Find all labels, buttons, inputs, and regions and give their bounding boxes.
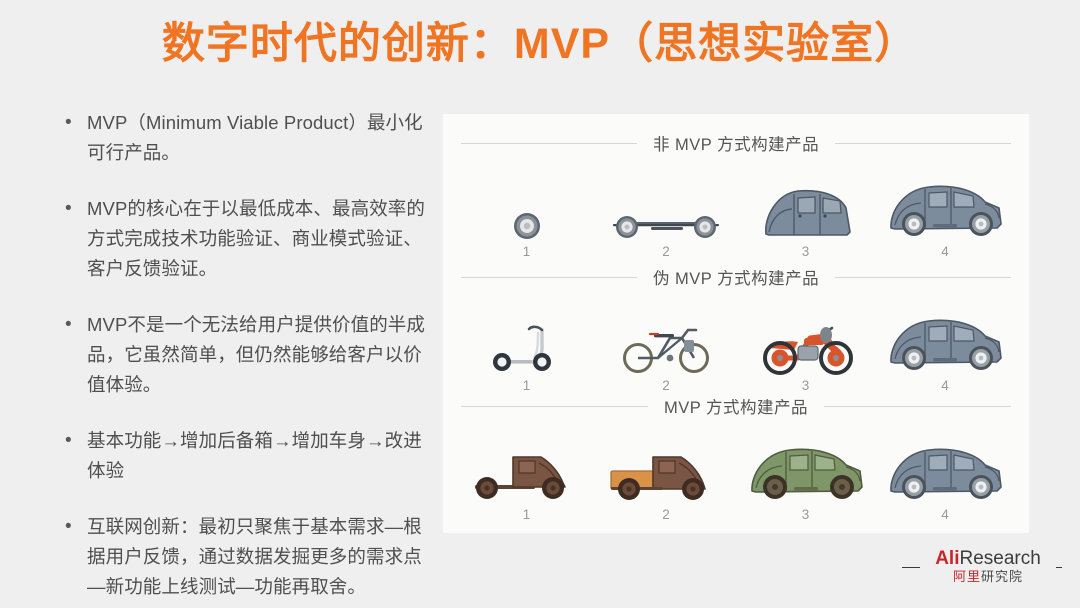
bullet-marker-icon: • [60, 194, 87, 224]
step-cell [736, 160, 876, 242]
step-cell [457, 160, 597, 242]
bullet-marker-icon: • [60, 426, 87, 456]
step-number: 4 [876, 244, 1016, 259]
divider-right [835, 277, 1011, 278]
wheel-icon [504, 174, 550, 242]
step-number: 2 [597, 378, 737, 393]
section-header: 伪 MVP 方式构建产品 [443, 266, 1029, 288]
section-header: 非 MVP 方式构建产品 [443, 132, 1029, 154]
bullet-marker-icon: • [60, 108, 87, 138]
car-complete-icon [881, 174, 1009, 242]
car-complete-icon [881, 308, 1009, 376]
step-row [443, 417, 1029, 505]
bullet-text: MVP的核心在于以最低成本、最高效率的方式完成技术功能验证、商业模式验证、客户反… [87, 194, 440, 284]
section-title: 非 MVP 方式构建产品 [637, 131, 835, 155]
step-number-row: 1 2 3 4 [443, 242, 1029, 259]
car-complete-icon [881, 437, 1009, 505]
bullet-text: MVP不是一个无法给用户提供价值的半成品，它虽然简单，但仍然能够给客户以价值体验… [87, 310, 440, 400]
step-number: 4 [876, 507, 1016, 522]
bullet-marker-icon: • [60, 310, 87, 340]
slide-root: 数字时代的创新：MVP（思想实验室） • MVP（Minimum Viable … [0, 0, 1080, 608]
step-number: 1 [457, 244, 597, 259]
title-bar: 数字时代的创新：MVP（思想实验室） [0, 18, 1080, 72]
list-item: • MVP的核心在于以最低成本、最高效率的方式完成技术功能验证、商业模式验证、客… [60, 194, 440, 284]
step-number: 3 [736, 507, 876, 522]
step-number-row: 1 2 3 4 [443, 376, 1029, 393]
divider-right [824, 406, 1011, 407]
list-item: • MVP（Minimum Viable Product）最小化可行产品。 [60, 108, 440, 168]
bicycle-icon [618, 308, 714, 376]
diagram-section-pseudo-mvp: 伪 MVP 方式构建产品 [443, 266, 1029, 393]
divider-left [461, 406, 648, 407]
step-cell [597, 160, 737, 242]
bullet-text: 互联网创新：最初只聚焦于基本需求—根据用户反馈，通过数据发掘更多的需求点—新功能… [87, 512, 440, 602]
car-green-icon [742, 437, 870, 505]
step-cell [457, 423, 597, 505]
step-number: 2 [597, 507, 737, 522]
logo-text-block: AliResearch 阿里研究院 [920, 548, 1056, 585]
bullet-text: 基本功能→增加后备箱→增加车身→改进体验 [87, 426, 440, 486]
step-number: 3 [736, 378, 876, 393]
truck-chassis-cab-icon [469, 437, 585, 505]
step-cell [876, 423, 1016, 505]
pickup-truck-icon [605, 437, 727, 505]
car-body-shell-icon [752, 174, 860, 242]
step-cell [876, 160, 1016, 242]
step-number-row: 1 2 3 4 [443, 505, 1029, 522]
step-cell [736, 423, 876, 505]
step-number: 1 [457, 378, 597, 393]
step-number: 3 [736, 244, 876, 259]
motorcycle-icon [754, 308, 858, 376]
bullet-text: MVP（Minimum Viable Product）最小化可行产品。 [87, 108, 440, 168]
step-number: 4 [876, 378, 1016, 393]
step-cell [597, 294, 737, 376]
section-title: 伪 MVP 方式构建产品 [637, 265, 835, 289]
chassis-axle-icon [607, 174, 725, 242]
brand-logo: AliResearch 阿里研究院 [902, 548, 1062, 596]
list-item: • 基本功能→增加后备箱→增加车身→改进体验 [60, 426, 440, 486]
step-row [443, 288, 1029, 376]
logo-en-primary: Ali [935, 548, 959, 569]
page-title: 数字时代的创新：MVP（思想实验室） [0, 18, 1080, 72]
divider-left [461, 277, 637, 278]
bullet-marker-icon: • [60, 512, 87, 542]
step-number: 2 [597, 244, 737, 259]
step-row [443, 154, 1029, 242]
list-item: • 互联网创新：最初只聚焦于基本需求—根据用户反馈，通过数据发掘更多的需求点—新… [60, 512, 440, 602]
logo-cn: 阿里研究院 [924, 569, 1052, 585]
divider-right [835, 143, 1011, 144]
diagram-panel: 非 MVP 方式构建产品 [443, 114, 1029, 533]
logo-en: AliResearch [924, 548, 1052, 569]
bullet-list: • MVP（Minimum Viable Product）最小化可行产品。 • … [60, 108, 440, 608]
section-header: MVP 方式构建产品 [443, 395, 1029, 417]
section-title: MVP 方式构建产品 [648, 394, 824, 418]
step-number: 1 [457, 507, 597, 522]
step-cell [457, 294, 597, 376]
diagram-section-mvp: MVP 方式构建产品 [443, 395, 1029, 522]
step-cell [736, 294, 876, 376]
divider-left [461, 143, 637, 144]
logo-cn-primary: 阿里 [953, 569, 981, 584]
diagram-section-non-mvp: 非 MVP 方式构建产品 [443, 132, 1029, 259]
logo-cn-secondary: 研究院 [981, 569, 1023, 584]
step-cell [597, 423, 737, 505]
kick-scooter-icon [488, 308, 566, 376]
step-cell [876, 294, 1016, 376]
logo-en-secondary: Research [959, 548, 1040, 569]
list-item: • MVP不是一个无法给用户提供价值的半成品，它虽然简单，但仍然能够给客户以价值… [60, 310, 440, 400]
